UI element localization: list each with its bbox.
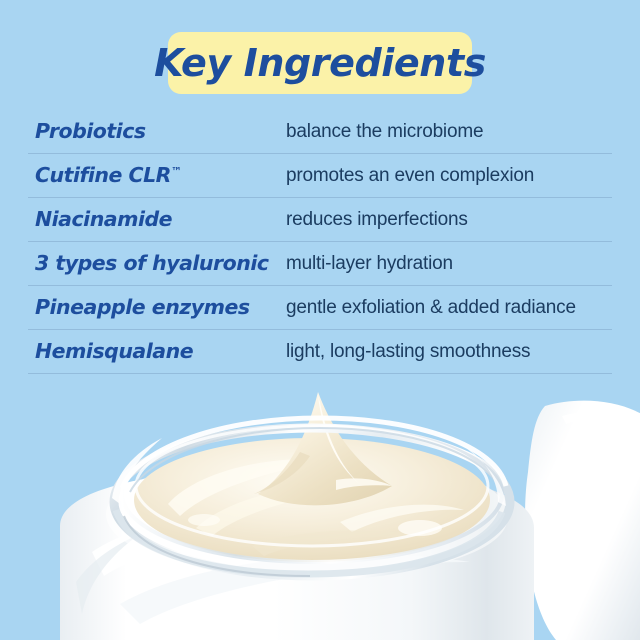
product-ingredients-card: Key Ingredients Probiotics balance the m… bbox=[0, 0, 640, 640]
product-photo bbox=[0, 376, 640, 640]
ingredient-benefit: multi-layer hydration bbox=[286, 254, 612, 273]
ingredient-name: Pineapple enzymes bbox=[28, 297, 286, 318]
table-row: 3 types of hyaluronic multi-layer hydrat… bbox=[28, 242, 612, 286]
ingredient-name: Probiotics bbox=[28, 121, 286, 142]
ingredient-benefit: promotes an even complexion bbox=[286, 166, 612, 185]
table-row: Pineapple enzymes gentle exfoliation & a… bbox=[28, 286, 612, 330]
page-title: Key Ingredients bbox=[154, 44, 486, 82]
table-row: Niacinamide reduces imperfections bbox=[28, 198, 612, 242]
table-row: Hemisqualane light, long-lasting smoothn… bbox=[28, 330, 612, 374]
ingredient-name: 3 types of hyaluronic bbox=[28, 253, 286, 274]
cream-jar-illustration bbox=[0, 376, 640, 640]
title-badge: Key Ingredients bbox=[168, 32, 472, 94]
ingredient-benefit: light, long-lasting smoothness bbox=[286, 342, 612, 361]
table-row: Probiotics balance the microbiome bbox=[28, 110, 612, 154]
table-row: Cutifine CLR™ promotes an even complexio… bbox=[28, 154, 612, 198]
ingredient-name: Cutifine CLR™ bbox=[28, 165, 286, 186]
ingredient-benefit: balance the microbiome bbox=[286, 122, 612, 141]
jar-lid bbox=[525, 401, 640, 640]
ingredients-table: Probiotics balance the microbiome Cutifi… bbox=[28, 110, 612, 374]
ingredient-name: Hemisqualane bbox=[28, 341, 286, 362]
ingredient-benefit: reduces imperfections bbox=[286, 210, 612, 229]
ingredient-benefit: gentle exfoliation & added radiance bbox=[286, 298, 612, 317]
ingredient-name: Niacinamide bbox=[28, 209, 286, 230]
